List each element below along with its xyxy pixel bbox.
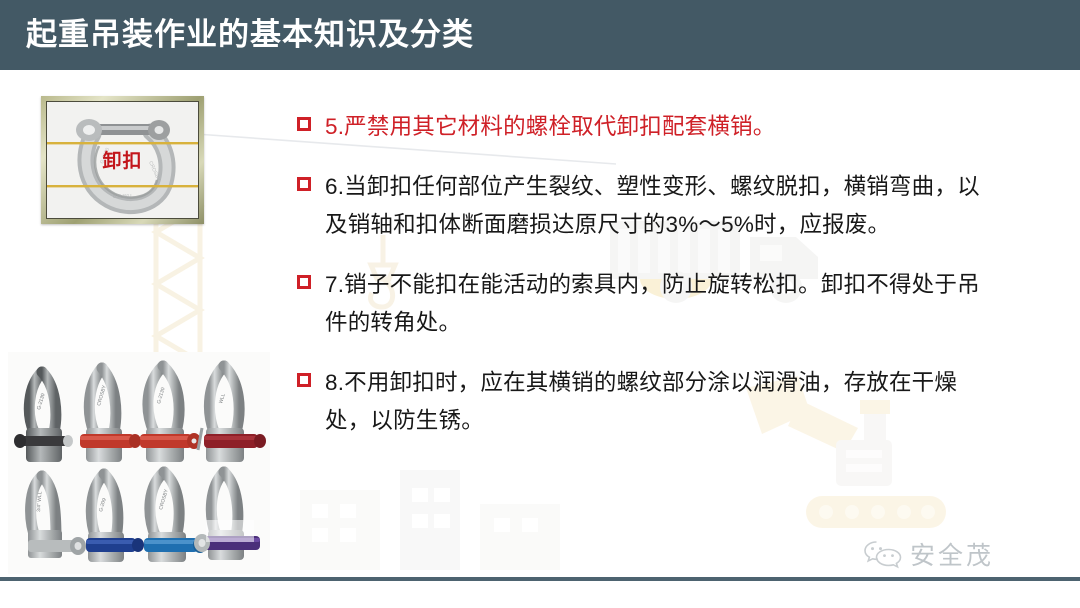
list-item: 8.不用卸扣时，应在其横销的螺纹部分涂以润滑油，存放在干燥处，以防生锈。: [297, 364, 997, 440]
page-title: 起重吊装作业的基本知识及分类: [26, 16, 474, 54]
wechat-watermark-text: 安全茂: [910, 536, 994, 572]
wechat-watermark: 安全茂: [863, 536, 994, 572]
shackle-grid-photo-icon: G-2130 CROSBY G-2130: [8, 352, 270, 574]
list-item: 6.当卸扣任何部位产生裂纹、塑性变形、螺纹脱扣，横销弯曲，以及销轴和扣体断面磨损…: [297, 168, 997, 244]
slide-canvas: 起重吊装作业的基本知识及分类: [0, 0, 1080, 608]
framed-shackle-photo: G-2130 CROSBY 8.5t WLL 卸扣: [41, 96, 204, 224]
list-item: 5.严禁用其它材料的螺栓取代卸扣配套横销。: [297, 108, 997, 146]
red-square-outline-icon: [297, 275, 311, 289]
bullet-list: 5.严禁用其它材料的螺栓取代卸扣配套横销。 6.当卸扣任何部位产生裂纹、塑性变形…: [297, 108, 997, 462]
red-square-outline-icon: [297, 177, 311, 191]
list-item-text: 8.不用卸扣时，应在其横销的螺纹部分涂以润滑油，存放在干燥处，以防生锈。: [325, 364, 997, 440]
framed-photo-inner: G-2130 CROSBY 8.5t WLL 卸扣: [46, 101, 199, 219]
svg-text:8.5t WLL: 8.5t WLL: [113, 194, 133, 200]
photo-label: 卸扣: [47, 146, 198, 173]
list-item-text: 5.严禁用其它材料的螺栓取代卸扣配套横销。: [325, 108, 997, 146]
slide-header-band: 起重吊装作业的基本知识及分类: [0, 0, 1080, 70]
wechat-icon: [863, 539, 903, 569]
red-square-outline-icon: [297, 117, 311, 131]
list-item-text: 7.销子不能扣在能活动的索具内，防止旋转松扣。卸扣不得处于吊件的转角处。: [325, 266, 997, 342]
red-square-outline-icon: [297, 373, 311, 387]
list-item-text: 6.当卸扣任何部位产生裂纹、塑性变形、螺纹脱扣，横销弯曲，以及销轴和扣体断面磨损…: [325, 168, 997, 244]
building-watermark: [300, 470, 560, 570]
list-item: 7.销子不能扣在能活动的索具内，防止旋转松扣。卸扣不得处于吊件的转角处。: [297, 266, 997, 342]
bottom-divider: [0, 577, 1080, 581]
